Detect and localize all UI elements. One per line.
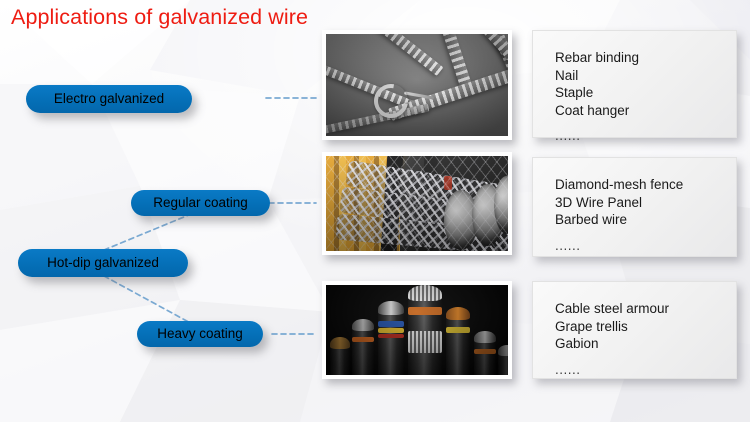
node-hot-dip-galvanized[interactable]: Hot-dip galvanized: [18, 249, 188, 277]
application-item: Cable steel armour: [555, 300, 736, 318]
node-electro-galvanized-label: Electro galvanized: [54, 91, 164, 106]
applications-panel-electro: Rebar binding Nail Staple Coat hanger ..…: [532, 30, 737, 138]
application-item: Staple: [555, 84, 736, 102]
node-electro-galvanized[interactable]: Electro galvanized: [26, 85, 192, 113]
connector-hotdip-to-regular: [104, 212, 196, 250]
slide-canvas: Applications of galvanized wire Electro …: [0, 0, 750, 422]
application-item: Grape trellis: [555, 318, 736, 336]
connector-hotdip-to-heavy: [104, 276, 196, 326]
applications-panel-regular: Diamond-mesh fence 3D Wire Panel Barbed …: [532, 157, 737, 257]
application-ellipsis: ......: [555, 237, 736, 255]
rebar-tying-photo: [322, 30, 512, 140]
node-heavy-coating[interactable]: Heavy coating: [137, 321, 263, 347]
node-heavy-coating-label: Heavy coating: [157, 326, 243, 341]
application-item: Rebar binding: [555, 49, 736, 67]
node-hot-dip-galvanized-label: Hot-dip galvanized: [47, 255, 159, 270]
application-item: Diamond-mesh fence: [555, 176, 736, 194]
chain-link-mesh-rolls-photo: [322, 152, 512, 255]
node-regular-coating-label: Regular coating: [153, 195, 248, 210]
page-title: Applications of galvanized wire: [11, 5, 308, 30]
application-item: Nail: [555, 67, 736, 85]
application-item: Gabion: [555, 335, 736, 353]
application-item: Coat hanger: [555, 102, 736, 120]
application-ellipsis: ......: [555, 361, 736, 379]
application-ellipsis: ......: [555, 127, 736, 145]
application-item: 3D Wire Panel: [555, 194, 736, 212]
armoured-cables-photo: [322, 281, 512, 379]
node-regular-coating[interactable]: Regular coating: [131, 190, 270, 216]
application-item: Barbed wire: [555, 211, 736, 229]
applications-panel-heavy: Cable steel armour Grape trellis Gabion …: [532, 281, 737, 379]
